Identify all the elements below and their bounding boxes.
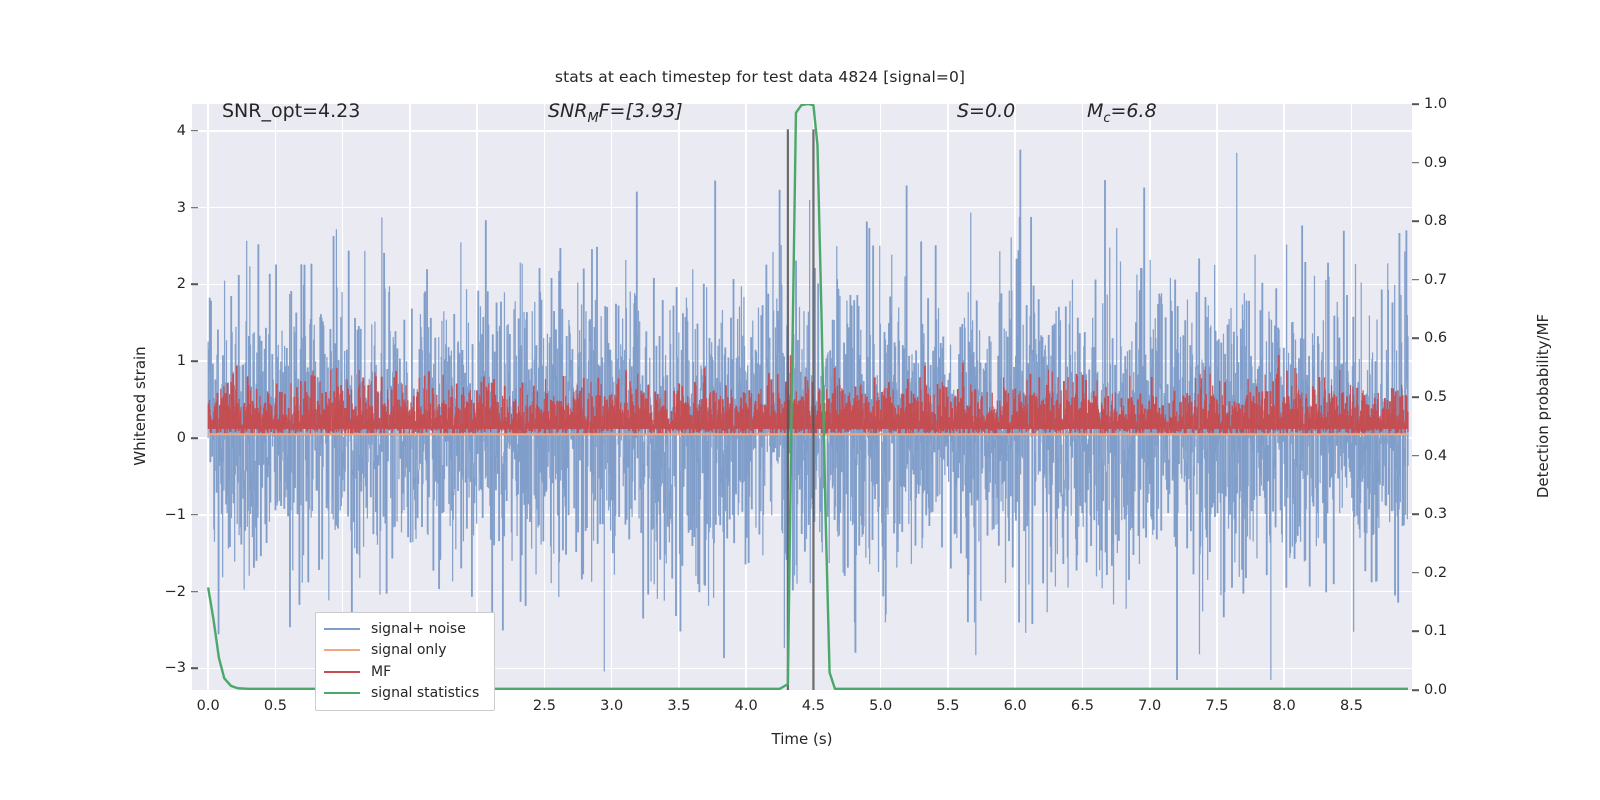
y-tick-label: 0 — [66, 430, 186, 446]
y-tick-label: −2 — [66, 584, 186, 600]
legend-swatch-icon — [324, 649, 360, 651]
y-axis-label: Whitened strain — [131, 256, 149, 556]
legend-label: MF — [371, 664, 391, 680]
legend-swatch-icon — [324, 671, 360, 673]
y-tick-label: 1 — [66, 353, 186, 369]
annotation-s: S=0.0 — [957, 100, 1015, 122]
legend-label: signal+ noise — [371, 621, 466, 637]
legend-label: signal statistics — [371, 685, 479, 701]
secondary-y-tick-label: 0.0 — [1424, 682, 1544, 698]
y-tick-label: −1 — [66, 507, 186, 523]
secondary-y-tick-label: 0.5 — [1424, 389, 1544, 405]
annotation-mc: Mc=6.8 — [1087, 100, 1157, 126]
secondary-y-tick-label: 0.2 — [1424, 565, 1544, 581]
secondary-y-tick-label: 0.7 — [1424, 272, 1544, 288]
annotation-snr-mf: SNRMF=[3.93] — [548, 100, 683, 126]
x-tick-label: 8.5 — [1311, 698, 1391, 714]
legend-item-3[interactable]: signal statistics — [324, 683, 486, 705]
y-tick-label: 2 — [66, 276, 186, 292]
secondary-y-tick-label: 0.4 — [1424, 448, 1544, 464]
secondary-y-tick-label: 0.3 — [1424, 506, 1544, 522]
plot-axes — [192, 104, 1412, 690]
y-tick-label: 3 — [66, 200, 186, 216]
legend-box[interactable]: signal+ noisesignal onlyMFsignal statist… — [315, 612, 495, 711]
x-axis-label: Time (s) — [192, 730, 1412, 748]
legend-label: signal only — [371, 642, 446, 658]
legend-item-2[interactable]: MF — [324, 661, 486, 683]
page-title: stats at each timestep for test data 482… — [0, 68, 1600, 86]
y-tick-label: −3 — [66, 660, 186, 676]
annotation-snr-opt: SNR_opt=4.23 — [222, 100, 360, 122]
secondary-y-tick-label: 0.6 — [1424, 330, 1544, 346]
y-tick-label: 4 — [66, 123, 186, 139]
secondary-y-tick-label: 0.1 — [1424, 623, 1544, 639]
figure-canvas: stats at each timestep for test data 482… — [0, 0, 1600, 800]
figure-title-text: stats at each timestep for test data 482… — [555, 68, 965, 86]
data-traces — [192, 104, 1412, 690]
legend-swatch-icon — [324, 692, 360, 694]
legend-item-1[interactable]: signal only — [324, 640, 486, 662]
secondary-y-tick-label: 0.8 — [1424, 213, 1544, 229]
legend-item-0[interactable]: signal+ noise — [324, 618, 486, 640]
secondary-y-tick-label: 1.0 — [1424, 96, 1544, 112]
legend-swatch-icon — [324, 628, 360, 630]
secondary-y-axis-label: Detection probability/MF — [1534, 256, 1552, 556]
secondary-y-tick-label: 0.9 — [1424, 155, 1544, 171]
